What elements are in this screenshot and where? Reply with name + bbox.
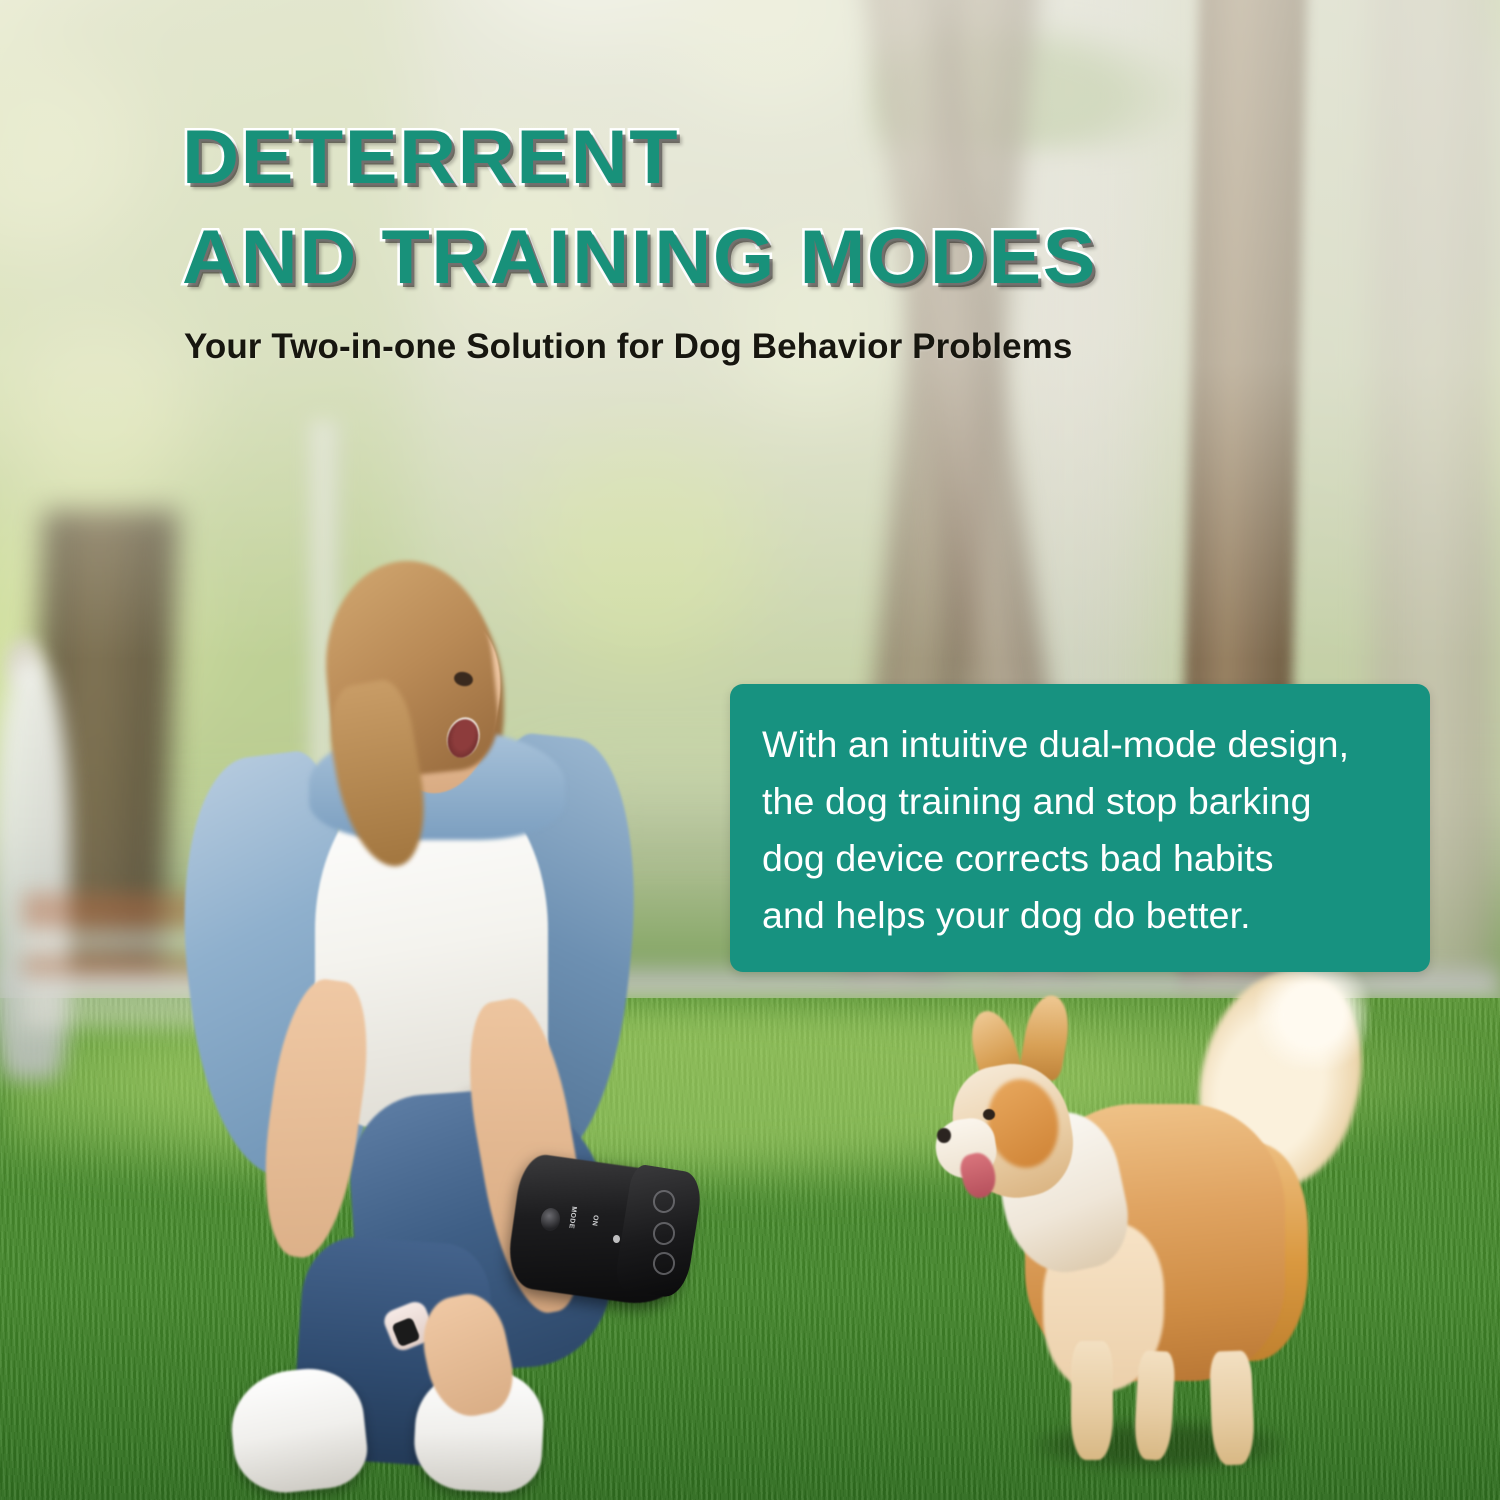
dog-eye <box>983 1109 995 1120</box>
callout-body-text: With an intuitive dual-mode design, the … <box>762 716 1396 944</box>
corgi-dog <box>923 975 1388 1470</box>
dog-tail-tip <box>1257 960 1369 1069</box>
subheadline: Your Two-in-one Solution for Dog Behavio… <box>184 327 1072 367</box>
dog-leg <box>1209 1350 1255 1465</box>
woman-subject <box>165 570 720 1500</box>
callout-box: With an intuitive dual-mode design, the … <box>730 684 1430 972</box>
device-label-on: ON <box>590 1214 599 1226</box>
handheld-device: MODE ON <box>513 1163 686 1298</box>
headline: DETERRENT AND TRAINING MODES <box>182 108 1347 308</box>
banner-canvas: MODE ON DETERRENT AND TRAINING MODES You… <box>0 0 1500 1500</box>
dog-leg <box>1071 1341 1113 1460</box>
